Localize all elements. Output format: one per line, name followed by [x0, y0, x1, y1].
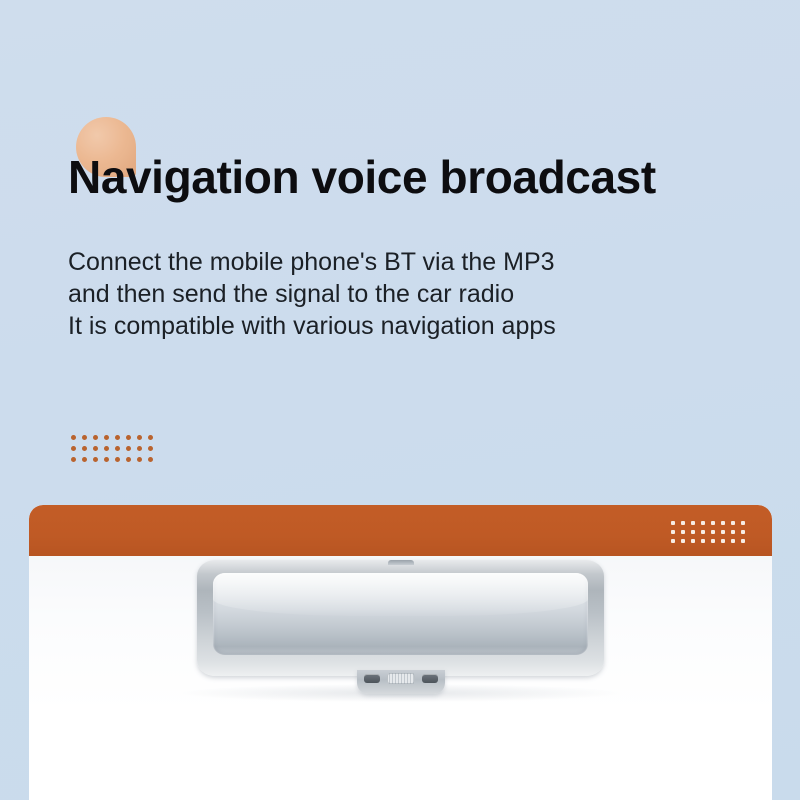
- dot: [721, 539, 725, 543]
- panel-orange-banner: [29, 505, 772, 556]
- dot: [148, 435, 153, 440]
- dot: [148, 457, 153, 462]
- dot: [82, 446, 87, 451]
- dot: [71, 446, 76, 451]
- dot: [115, 435, 120, 440]
- dot: [126, 435, 131, 440]
- product-panel: [29, 505, 772, 800]
- dot: [148, 446, 153, 451]
- dot: [104, 446, 109, 451]
- dot: [731, 539, 735, 543]
- dot: [701, 521, 705, 525]
- dot: [104, 457, 109, 462]
- dot: [681, 530, 685, 534]
- mirror-glass-sheen: [213, 573, 588, 616]
- mirror-top-mount: [388, 560, 414, 565]
- dot: [741, 530, 745, 534]
- mirror-glass-surface: [213, 573, 588, 655]
- mirror-bottom-housing: [357, 670, 445, 694]
- dot: [93, 446, 98, 451]
- dot: [137, 446, 142, 451]
- dot: [701, 539, 705, 543]
- dot: [721, 521, 725, 525]
- rearview-mirror-product-image: [197, 560, 604, 676]
- dot: [71, 457, 76, 462]
- dot: [701, 530, 705, 534]
- dot: [711, 530, 715, 534]
- mirror-button-left: [364, 674, 380, 683]
- dot: [691, 539, 695, 543]
- subtitle-block: Connect the mobile phone's BT via the MP…: [68, 246, 556, 342]
- dot: [711, 521, 715, 525]
- decorative-dot-grid: [68, 432, 156, 465]
- dot: [82, 435, 87, 440]
- dot: [137, 457, 142, 462]
- subtitle-line-2: and then send the signal to the car radi…: [68, 278, 556, 310]
- dot: [93, 457, 98, 462]
- dot: [71, 435, 76, 440]
- page-title: Navigation voice broadcast: [68, 150, 656, 204]
- dot: [82, 457, 87, 462]
- dot: [711, 539, 715, 543]
- dot: [681, 539, 685, 543]
- dot: [741, 521, 745, 525]
- dot: [93, 435, 98, 440]
- dot: [126, 446, 131, 451]
- banner-dot-grid: [668, 518, 748, 545]
- subtitle-line-3: It is compatible with various navigation…: [68, 310, 556, 342]
- dot: [731, 521, 735, 525]
- mirror-button-right: [422, 674, 438, 683]
- dot: [115, 457, 120, 462]
- dot: [671, 539, 675, 543]
- dot: [671, 530, 675, 534]
- dot: [741, 539, 745, 543]
- mirror-center-grille: [387, 673, 415, 684]
- dot: [731, 530, 735, 534]
- dot: [691, 521, 695, 525]
- dot: [671, 521, 675, 525]
- dot: [691, 530, 695, 534]
- promotional-banner-card: Navigation voice broadcast Connect the m…: [0, 0, 800, 800]
- dot: [721, 530, 725, 534]
- dot: [126, 457, 131, 462]
- product-image-stage: [29, 556, 772, 800]
- dot: [115, 446, 120, 451]
- dot: [104, 435, 109, 440]
- dot: [681, 521, 685, 525]
- subtitle-line-1: Connect the mobile phone's BT via the MP…: [68, 246, 556, 278]
- dot: [137, 435, 142, 440]
